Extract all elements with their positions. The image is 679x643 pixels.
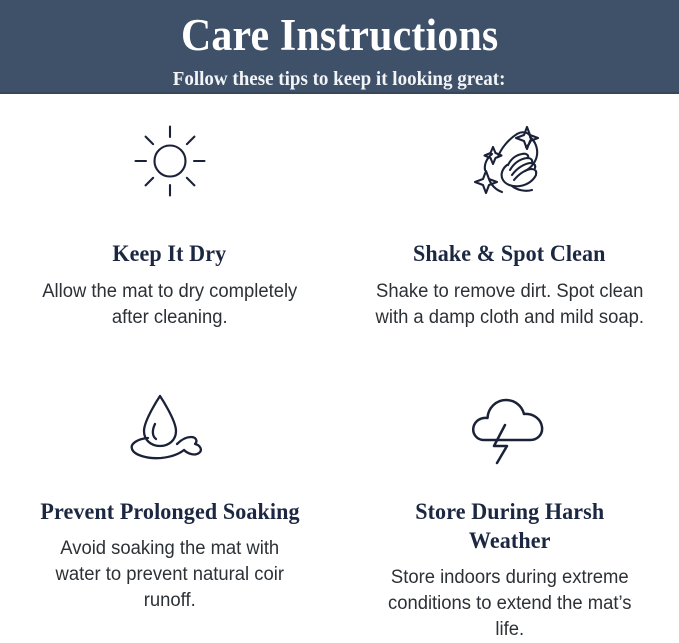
page-subtitle: Follow these tips to keep it looking gre… xyxy=(173,66,506,92)
washing-hands-sparkle-icon xyxy=(463,119,555,203)
care-instructions-infographic: Care Instructions Follow these tips to k… xyxy=(0,0,679,628)
tip-heading: Shake & Spot Clean xyxy=(413,239,606,268)
tip-heading: Keep It Dry xyxy=(113,239,227,268)
tip-heading: Store During Harsh Weather xyxy=(385,497,634,555)
tip-card-shake-and-spot-clean: Shake & Spot Clean Shake to remove dirt.… xyxy=(340,94,679,377)
tips-grid: Keep It Dry Allow the mat to dry complet… xyxy=(0,94,679,643)
water-droplet-puddle-icon xyxy=(124,386,216,470)
sun-icon xyxy=(124,119,216,203)
tip-card-keep-it-dry: Keep It Dry Allow the mat to dry complet… xyxy=(0,94,340,377)
tip-body: Avoid soaking the mat with water to prev… xyxy=(38,536,301,614)
tip-card-prevent-prolonged-soaking: Prevent Prolonged Soaking Avoid soaking … xyxy=(0,377,340,643)
tip-body: Allow the mat to dry completely after cl… xyxy=(38,279,301,331)
tip-body: Shake to remove dirt. Spot clean with a … xyxy=(372,279,647,331)
page-title: Care Instructions xyxy=(181,9,498,61)
storm-cloud-lightning-icon xyxy=(463,386,555,470)
tip-heading: Prevent Prolonged Soaking xyxy=(40,497,299,526)
header-banner: Care Instructions Follow these tips to k… xyxy=(0,0,679,94)
tip-card-store-during-harsh-weather: Store During Harsh Weather Store indoors… xyxy=(340,377,679,643)
tip-body: Store indoors during extreme conditions … xyxy=(383,565,635,643)
